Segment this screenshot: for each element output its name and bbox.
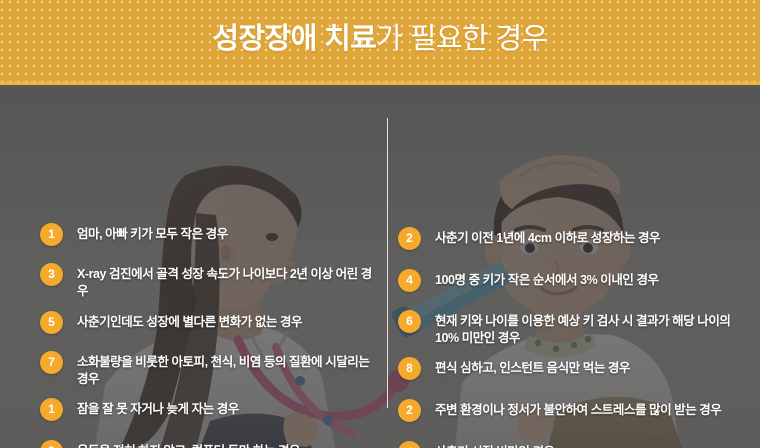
list-item: 8 편식 심하고, 인스턴트 음식만 먹는 경우 [398, 357, 747, 380]
item-label: 잠을 잘 못 자거나 늦게 자는 경우 [77, 398, 377, 418]
item-number-badge: 5 [40, 311, 63, 334]
growth-disorder-infographic: 성장장애 치료가 필요한 경우 [0, 0, 760, 448]
list-item: 1 잠을 잘 못 자거나 늦게 자는 경우 [40, 398, 377, 421]
list-item: 2 사춘기 이전 1년에 4cm 이하로 성장하는 경우 [398, 227, 747, 250]
list-item: 5 사춘기인데도 성장에 별다른 변화가 없는 경우 [40, 311, 377, 334]
item-label: X-ray 검진에서 골격 성장 속도가 나이보다 2년 이상 어린 경우 [77, 263, 377, 300]
item-number-badge: 3 [40, 440, 63, 448]
item-label: 편식 심하고, 인스턴트 음식만 먹는 경우 [435, 357, 747, 377]
item-number-badge: 4 [398, 441, 421, 448]
item-number-badge: 4 [398, 269, 421, 292]
item-number-badge: 7 [40, 351, 63, 374]
list-item: 4 사춘기 시절 비만인 경우 [398, 441, 747, 448]
item-label: 사춘기 시절 비만인 경우 [435, 441, 747, 448]
item-number-badge: 3 [40, 263, 63, 286]
item-label: 소화불량을 비롯한 아토피, 천식, 비염 등의 질환에 시달리는 경우 [77, 351, 377, 388]
item-number-badge: 1 [40, 398, 63, 421]
content-columns: 1 엄마, 아빠 키가 모두 작은 경우 3 X-ray 검진에서 골격 성장 … [0, 85, 760, 448]
item-label: 주변 환경이나 정서가 불안하여 스트레스를 많이 받는 경우 [435, 399, 747, 419]
item-number-badge: 6 [398, 310, 421, 333]
item-label: 운동을 전혀 하지 않고, 컴퓨터 등만 하는 경우 [77, 440, 377, 448]
column-divider [387, 118, 388, 408]
item-number-badge: 8 [398, 357, 421, 380]
page-title-strong: 성장장애 치료 [212, 23, 376, 55]
list-item: 2 주변 환경이나 정서가 불안하여 스트레스를 많이 받는 경우 [398, 399, 747, 422]
item-number-badge: 1 [40, 223, 63, 246]
list-item: 7 소화불량을 비롯한 아토피, 천식, 비염 등의 질환에 시달리는 경우 [40, 351, 377, 388]
item-label: 엄마, 아빠 키가 모두 작은 경우 [77, 223, 377, 243]
right-column: 2 사춘기 이전 1년에 4cm 이하로 성장하는 경우 4 100명 중 키가… [398, 85, 750, 448]
header-banner: 성장장애 치료가 필요한 경우 [0, 0, 760, 85]
page-title-light: 가 필요한 경우 [376, 23, 547, 55]
item-label: 사춘기 이전 1년에 4cm 이하로 성장하는 경우 [435, 227, 747, 247]
item-label: 현재 키와 나이를 이용한 예상 키 검사 시 결과가 해당 나이의 10% 미… [435, 310, 747, 347]
item-number-badge: 2 [398, 399, 421, 422]
list-item: 3 X-ray 검진에서 골격 성장 속도가 나이보다 2년 이상 어린 경우 [40, 263, 377, 300]
item-number-badge: 2 [398, 227, 421, 250]
list-item: 3 운동을 전혀 하지 않고, 컴퓨터 등만 하는 경우 [40, 440, 377, 448]
left-column: 1 엄마, 아빠 키가 모두 작은 경우 3 X-ray 검진에서 골격 성장 … [40, 85, 380, 448]
list-item: 1 엄마, 아빠 키가 모두 작은 경우 [40, 223, 377, 246]
item-label: 사춘기인데도 성장에 별다른 변화가 없는 경우 [77, 311, 377, 331]
page-title: 성장장애 치료가 필요한 경우 [212, 25, 547, 58]
item-label: 100명 중 키가 작은 순서에서 3% 이내인 경우 [435, 269, 747, 289]
list-item: 4 100명 중 키가 작은 순서에서 3% 이내인 경우 [398, 269, 747, 292]
list-item: 6 현재 키와 나이를 이용한 예상 키 검사 시 결과가 해당 나이의 10%… [398, 310, 747, 347]
